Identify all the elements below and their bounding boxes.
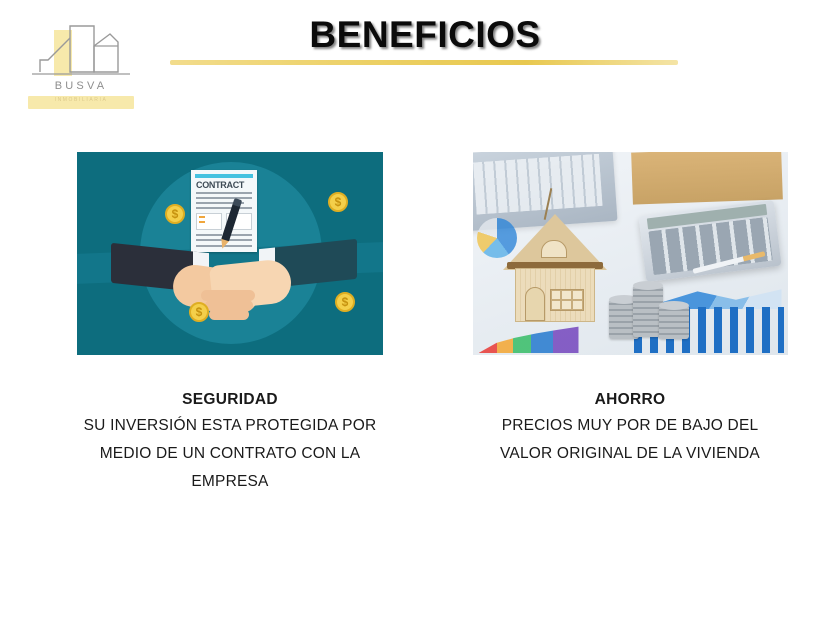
slide-root: BUSVA INMOBILIARIA BENEFICIOS CONTRACT bbox=[0, 0, 840, 630]
column-seguridad: CONTRACT bbox=[20, 152, 440, 355]
building-outline-icon bbox=[26, 24, 136, 80]
logo-wordmark: BUSVA bbox=[26, 80, 136, 92]
house-body bbox=[515, 268, 595, 322]
coin-icon: $ bbox=[328, 192, 348, 212]
house-coins-calculator-photo bbox=[473, 152, 788, 355]
logo-tagline-highlight: INMOBILIARIA bbox=[28, 96, 134, 109]
page-title: BENEFICIOS bbox=[170, 14, 680, 56]
caption-line: PRECIOS MUY POR DE BAJO DEL bbox=[430, 412, 830, 440]
title-underline-rule bbox=[170, 60, 678, 65]
caption-line: VALOR ORIGINAL DE LA VIVIENDA bbox=[430, 440, 830, 468]
coin-icon: $ bbox=[165, 204, 185, 224]
caption-line: MEDIO DE UN CONTRATO CON LA bbox=[20, 440, 440, 468]
model-house-icon bbox=[507, 214, 603, 324]
caption-ahorro: AHORRO PRECIOS MUY POR DE BAJO DEL VALOR… bbox=[430, 388, 830, 468]
handshake-contract-illustration: CONTRACT bbox=[77, 152, 383, 355]
coin-icon: $ bbox=[335, 292, 355, 312]
wooden-surface bbox=[631, 152, 783, 205]
coin-stack bbox=[659, 305, 689, 339]
caption-seguridad: SEGURIDAD SU INVERSIÓN ESTA PROTEGIDA PO… bbox=[20, 388, 440, 496]
coin-icon: $ bbox=[189, 302, 209, 322]
logo-tagline: INMOBILIARIA bbox=[28, 97, 134, 103]
brand-logo: BUSVA INMOBILIARIA bbox=[26, 24, 136, 108]
contract-label: CONTRACT bbox=[196, 180, 244, 190]
caption-line: EMPRESA bbox=[20, 468, 440, 496]
laptop-keyboard bbox=[473, 154, 602, 215]
column-ahorro bbox=[430, 152, 830, 355]
caption-line: SU INVERSIÓN ESTA PROTEGIDA POR bbox=[20, 412, 440, 440]
house-attic-window bbox=[541, 240, 567, 258]
house-door bbox=[525, 287, 545, 321]
house-window bbox=[550, 289, 584, 311]
caption-heading: AHORRO bbox=[430, 388, 830, 412]
caption-heading: SEGURIDAD bbox=[20, 388, 440, 412]
handshake-icon bbox=[173, 260, 291, 330]
document-header-bar bbox=[195, 174, 253, 178]
